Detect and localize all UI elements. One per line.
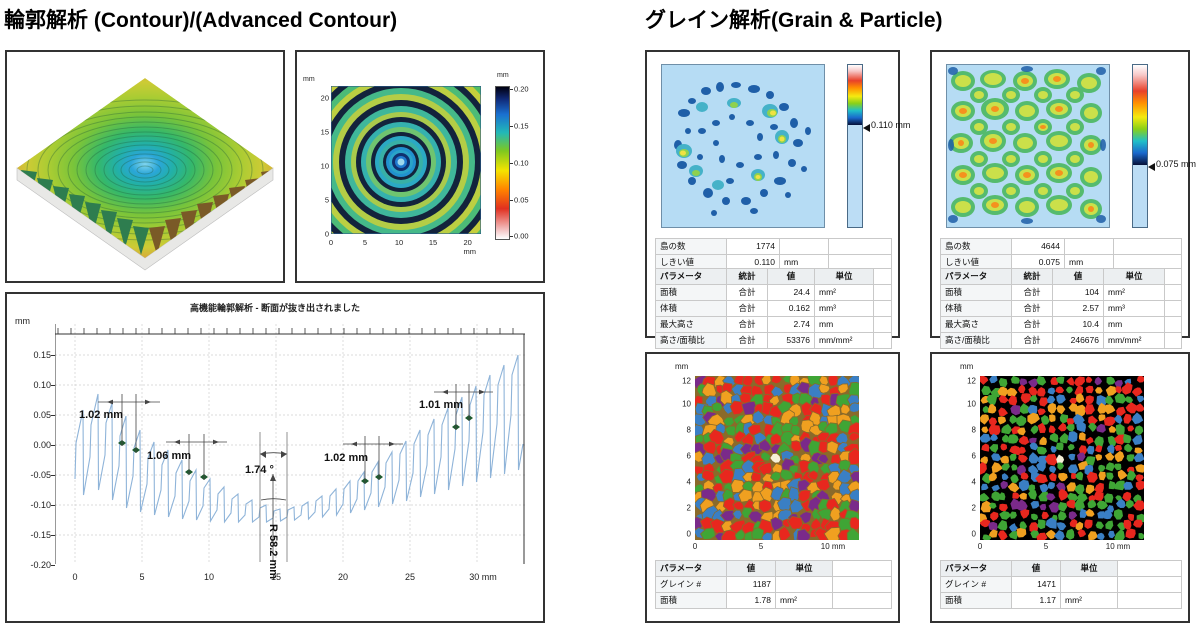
surface-3d-panel [5,50,285,283]
contour-map-image [331,86,481,234]
prof-ytick-3: 0.00 [33,440,51,450]
prof-ytick-4: -0.05 [30,470,51,480]
table-row: 面積 合計 104 mm² [941,285,1182,301]
table-row: 面積 1.17 mm² [941,593,1182,609]
dim-label-1-01: 1.01 mm [419,399,463,411]
table-row: グレイン # 1471 [941,577,1182,593]
table-row: グレイン # 1187 [656,577,892,593]
contour-colorbar-ticks: 0.20 0.15 0.10 0.05 0.00 [510,86,544,238]
grain-panel-1: 0.110 mm 島の数 1774 しきい値 0.110 mm パラメータ 統計… [645,50,900,338]
grain-panel-4: mm 0 2 4 6 8 10 12 0 5 10 mm パラメータ 値 単位 … [930,352,1190,623]
radius-label-r58-2: R 58.2 mm [267,524,279,579]
grain-section-heading: グレイン解析(Grain & Particle) [645,4,943,34]
grain-param-table-1: パラメータ 統計 値 単位 面積 合計 24.4 mm² 体積 合計 0.162… [655,268,892,349]
profile-plot-area [55,324,525,564]
prof-ytick-0: 0.15 [33,350,51,360]
grain-summary-table-2: 島の数 4644 しきい値 0.075 mm [940,238,1182,271]
contour-map-x-axis: 0 5 10 15 20 mm [331,238,486,250]
grain3-y-unit: mm [675,362,688,371]
prof-xtick-2: 10 [204,572,214,582]
cb-tick-2: 0.10 [514,159,529,168]
grain-map-image-3 [695,376,859,540]
grain-map-svg-4 [980,376,1144,540]
surface-3d-svg [7,52,283,281]
table-header-row: パラメータ 値 単位 [656,561,892,577]
table-row: 体積 合計 2.57 mm³ [941,301,1182,317]
profile-y-axis: 0.15 0.10 0.05 0.00 -0.05 -0.10 -0.15 -0… [13,324,53,564]
angle-label-1-74: 1.74 ° [245,464,274,476]
contour-map-y-unit: mm [303,76,315,83]
cm-ytick-2: 10 [321,162,329,171]
contour-map-svg [331,86,481,234]
table-row: 体積 合計 0.162 mm³ [656,301,892,317]
table-header-row: パラメータ 統計 値 単位 [656,269,892,285]
grain-panel-2: 0.075 mm 島の数 4644 しきい値 0.075 mm パラメータ 統計… [930,50,1190,338]
grain-param-table-3: パラメータ 値 単位 グレイン # 1187 面積 1.78 mm² [655,560,892,609]
table-row: 島の数 1774 [656,239,892,255]
grain4-y-unit: mm [960,362,973,371]
grain-island-svg-2 [947,65,1107,225]
prof-ytick-1: 0.10 [33,380,51,390]
threshold-value-2: 0.075 mm [1156,159,1196,169]
threshold-pointer-icon-2 [1148,163,1155,171]
cb-tick-1: 0.15 [514,122,529,131]
grain-threshold-bar-2[interactable] [1132,64,1148,228]
prof-xtick-5: 25 [405,572,415,582]
grain-param-table-2: パラメータ 統計 値 単位 面積 合計 104 mm² 体積 合計 2.57 m… [940,268,1182,349]
table-row: 最大高さ 合計 2.74 mm [656,317,892,333]
dim-label-1-02-left: 1.02 mm [79,409,123,421]
prof-ytick-7: -0.20 [30,560,51,570]
grain-map-svg-3 [695,376,859,540]
threshold-pointer-icon-1 [863,124,870,132]
prof-xtick-1: 5 [139,572,144,582]
dim-label-1-02-right: 1.02 mm [324,452,368,464]
grain3-x-axis: 0 5 10 mm [695,542,865,554]
grain3-y-axis: 0 2 4 6 8 10 12 [659,376,693,540]
prof-xtick-4: 20 [338,572,348,582]
contour-colorbar-title: mm [497,72,509,79]
cm-ytick-4: 20 [321,94,329,103]
cm-xtick-4: 20 mm [464,238,479,256]
cb-tick-0: 0.20 [514,85,529,94]
table-row: 高さ/面積比 合計 53376 mm/mm² [656,333,892,349]
cm-xtick-0: 0 [329,238,333,247]
cm-xtick-1: 5 [363,238,367,247]
dim-label-1-06: 1.06 mm [147,450,191,462]
grain-summary-table-1: 島の数 1774 しきい値 0.110 mm [655,238,892,271]
profile-x-axis: 0 5 10 15 20 25 30 mm [55,572,525,586]
prof-ytick-5: -0.10 [30,500,51,510]
table-row: 面積 合計 24.4 mm² [656,285,892,301]
prof-xtick-0: 0 [72,572,77,582]
profile-chart-title: 高機能輪郭解析 - 断面が抜き出されました [7,301,543,314]
prof-xtick-6: 30 mm [469,572,497,582]
profile-plot-svg [55,324,525,564]
prof-ytick-2: 0.05 [33,410,51,420]
grain-map-image-4 [980,376,1144,540]
prof-ytick-6: -0.15 [30,530,51,540]
grain4-y-axis: 0 2 4 6 8 10 12 [944,376,978,540]
prof-xtick-3: 15 [271,572,281,582]
grain-island-image-2 [946,64,1110,228]
cm-ytick-3: 15 [321,128,329,137]
cm-xtick-3: 15 [429,238,437,247]
profile-chart-panel: 高機能輪郭解析 - 断面が抜き出されました mm 0.15 0.10 0.05 … [5,292,545,623]
threshold-value-1: 0.110 mm [871,120,910,130]
table-row: 高さ/面積比 合計 246676 mm/mm² [941,333,1182,349]
table-header-row: パラメータ 統計 値 単位 [941,269,1182,285]
grain4-x-axis: 0 5 10 mm [980,542,1150,554]
cm-ytick-1: 5 [325,196,329,205]
grain-panel-3: mm 0 2 4 6 8 10 12 0 5 10 mm パラメータ 値 単位 … [645,352,900,623]
cm-xtick-2: 10 [395,238,403,247]
table-row: 最大高さ 合計 10.4 mm [941,317,1182,333]
table-row: 面積 1.78 mm² [656,593,892,609]
cb-tick-3: 0.05 [514,196,529,205]
surface-3d-image [7,52,283,281]
contour-colorbar [495,86,510,240]
table-header-row: パラメータ 値 単位 [941,561,1182,577]
grain-param-table-4: パラメータ 値 単位 グレイン # 1471 面積 1.17 mm² [940,560,1182,609]
grain-threshold-bar-1[interactable] [847,64,863,228]
cb-tick-4: 0.00 [514,232,529,241]
contour-section-heading: 輪郭解析 (Contour)/(Advanced Contour) [4,4,397,34]
contour-map-y-axis: 0 5 10 15 20 [309,86,329,234]
grain-island-svg-1 [662,65,822,225]
table-row: 島の数 4644 [941,239,1182,255]
contour-map-panel: mm 0 5 10 15 20 [295,50,545,283]
grain-island-image-1 [661,64,825,228]
